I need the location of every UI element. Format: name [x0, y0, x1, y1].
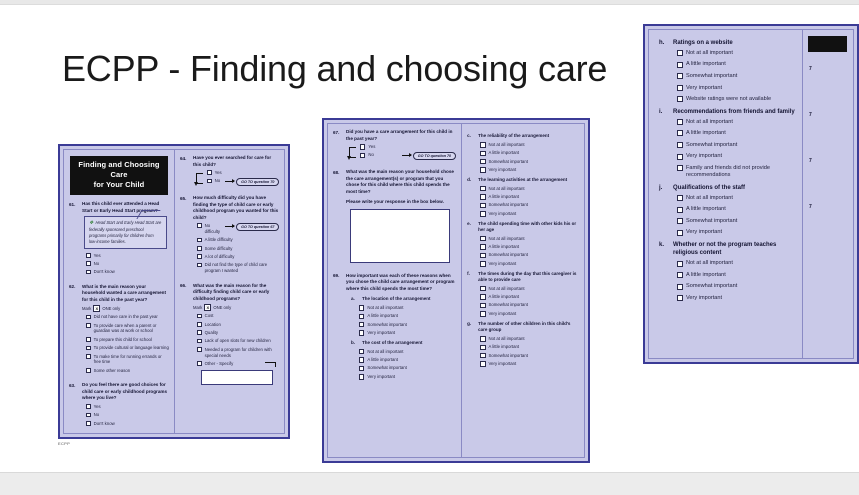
checkbox-icon[interactable] — [359, 330, 364, 335]
question-text: What was the main reason for the difficu… — [193, 283, 279, 303]
option-row[interactable]: A little important — [359, 313, 456, 319]
option-row[interactable]: Website ratings were not available — [677, 96, 796, 104]
mark-instruction: Mark X ONE only — [193, 304, 279, 311]
subitem-label: Ratings on a website — [673, 39, 733, 47]
subitem-d-header: d. The learning activities at the arrang… — [467, 177, 579, 183]
option-row[interactable]: Not at all important — [677, 50, 796, 58]
checkbox-icon[interactable] — [677, 50, 683, 56]
checkbox-icon[interactable] — [480, 336, 485, 341]
option-row[interactable]: Yes — [86, 253, 169, 259]
option-row[interactable]: A little important — [677, 272, 796, 280]
option-row[interactable]: Not at all important — [480, 336, 579, 342]
subitem-label: Recommendations from friends and family — [673, 108, 795, 116]
option-row[interactable]: To prepare this child for school — [86, 337, 169, 343]
option-row[interactable]: Did not have care in the past year — [86, 314, 169, 320]
checkbox-icon[interactable] — [197, 361, 202, 366]
checkbox-icon[interactable] — [359, 322, 364, 327]
option-row[interactable]: Somewhat important — [480, 302, 579, 308]
option-row[interactable]: Not at all important — [677, 260, 796, 268]
option-row[interactable]: Somewhat important — [359, 365, 456, 371]
checkbox-icon[interactable] — [86, 354, 91, 359]
option-row[interactable]: To provide care when a parent or guardia… — [86, 323, 169, 335]
checkbox-icon[interactable] — [677, 261, 683, 267]
checkbox-icon[interactable] — [677, 295, 683, 301]
skip-instruction: GO TO question 67 — [225, 223, 279, 231]
option-row[interactable]: Not at all important — [359, 305, 456, 311]
option-row[interactable]: Not at all important — [480, 142, 579, 148]
options-list: Not at all important A little important … — [476, 336, 579, 367]
checkbox-icon[interactable] — [86, 323, 91, 328]
options-list: No difficulty GO TO question 67 A little… — [193, 223, 279, 274]
checkbox-icon[interactable] — [480, 294, 485, 299]
option-row[interactable]: Very important — [359, 330, 456, 336]
arrow-right-icon — [225, 181, 234, 182]
info-callout: ❖Head Start and Early Head Start are fed… — [84, 216, 167, 248]
subitem-label: The times during the day that this careg… — [478, 271, 579, 284]
options-list: Not at all important A little important … — [476, 142, 579, 173]
checkbox-icon[interactable] — [197, 263, 202, 268]
option-row[interactable]: Somewhat important — [677, 218, 796, 226]
checkbox-icon[interactable] — [480, 244, 485, 249]
options-list: Yes No Don't know — [82, 404, 169, 427]
subitem-g-header: g. The number of other children in this … — [467, 321, 579, 334]
checkbox-icon[interactable] — [359, 357, 364, 362]
option-row[interactable]: Very important — [480, 361, 579, 367]
option-row[interactable]: No — [86, 412, 169, 418]
specify-hook-icon — [265, 361, 279, 366]
question-instruction: Please write your response in the box be… — [346, 199, 456, 206]
option-row[interactable]: Lack of open slots for new children — [197, 338, 279, 344]
checkbox-icon[interactable] — [480, 142, 485, 147]
options-list: Not at all important A little important … — [673, 195, 796, 237]
question-61: 61. Has this child ever attended a Head … — [69, 201, 169, 277]
option-row[interactable]: A little important — [480, 150, 579, 156]
checkbox-icon[interactable] — [207, 179, 212, 184]
question-number: 65. — [180, 195, 193, 277]
subitem-e-header: e. The child spending time with other ki… — [467, 221, 579, 234]
options-list: Yes No Don't know — [82, 253, 169, 276]
checkbox-icon[interactable] — [359, 305, 364, 310]
checkbox-icon[interactable] — [480, 211, 485, 216]
checkbox-icon[interactable] — [480, 253, 485, 258]
options-list: Not at all important A little important … — [673, 260, 796, 302]
subitem-label: The number of other children in this chi… — [478, 321, 579, 334]
option-row[interactable]: Somewhat important — [480, 159, 579, 165]
checkbox-icon[interactable] — [480, 203, 485, 208]
question-66: 66. What was the main reason for the dif… — [180, 283, 279, 387]
mark-x-icon: X — [204, 304, 211, 311]
checkbox-icon[interactable] — [86, 346, 91, 351]
callout-text: Head Start and Early Head Start are fede… — [89, 220, 161, 243]
checkbox-icon[interactable] — [197, 330, 202, 335]
option-row[interactable]: Quality — [197, 330, 279, 336]
info-bullet-icon: ❖ — [89, 220, 93, 226]
checkbox-icon[interactable] — [677, 85, 683, 91]
subitem-f-header: f. The times during the day that this ca… — [467, 271, 579, 284]
checkbox-icon[interactable] — [480, 151, 485, 156]
options-list: Yes No GO TO question 70 — [356, 144, 456, 160]
page-middle-column-2: c. The reliability of the arrangement No… — [462, 124, 584, 457]
option-row[interactable]: Yes — [207, 170, 279, 176]
option-row[interactable]: No — [86, 261, 169, 267]
option-row[interactable]: Not at all important — [677, 119, 796, 127]
option-row[interactable]: A little difficulty — [197, 237, 279, 243]
question-text: How important was each of these reasons … — [346, 273, 456, 293]
option-row[interactable]: Did not find the type of child care prog… — [197, 262, 279, 274]
checkbox-icon[interactable] — [360, 153, 365, 158]
option-row[interactable]: Very important — [480, 311, 579, 317]
subitem-b-header: b. The cost of the arrangement — [351, 340, 456, 346]
option-row[interactable]: A little important — [677, 61, 796, 69]
option-row[interactable]: Not at all important — [480, 236, 579, 242]
checkbox-icon[interactable] — [677, 96, 683, 102]
checkbox-icon[interactable] — [197, 223, 202, 228]
option-row[interactable]: A lot of difficulty — [197, 254, 279, 260]
subitem-label: The reliability of the arrangement — [478, 133, 549, 139]
question-number: 61. — [69, 201, 82, 277]
option-row[interactable]: A little important — [359, 357, 456, 363]
subitem-label: Qualifications of the staff — [673, 184, 745, 192]
checkbox-icon[interactable] — [677, 62, 683, 68]
option-row[interactable]: No GO TO question 70 — [207, 178, 279, 186]
option-row[interactable]: Location — [197, 322, 279, 328]
question-number: 64. — [180, 155, 193, 189]
skip-instruction: GO TO question 70 — [225, 178, 279, 186]
checkbox-icon[interactable] — [677, 119, 683, 125]
options-list: Did not have care in the past year To pr… — [82, 314, 169, 373]
checkbox-icon[interactable] — [480, 353, 485, 358]
checkbox-icon[interactable] — [86, 413, 91, 418]
option-row[interactable]: Not at all important — [677, 195, 796, 203]
subitem-label: The learning activities at the arrangeme… — [478, 177, 567, 183]
window-bottom-bar — [0, 472, 859, 495]
question-69: 69. How important was each of these reas… — [333, 273, 456, 383]
subitem-h-header: h. Ratings on a website — [659, 39, 796, 47]
option-row[interactable]: Somewhat important — [677, 283, 796, 291]
question-number: 67. — [333, 129, 346, 163]
checkbox-icon[interactable] — [207, 170, 212, 175]
question-62: 62. What is the main reason your househo… — [69, 284, 169, 376]
question-number: 7 — [809, 204, 848, 210]
option-row[interactable]: A little important — [480, 294, 579, 300]
option-row[interactable]: A little important — [677, 206, 796, 214]
checkbox-icon[interactable] — [480, 194, 485, 199]
option-row[interactable]: Somewhat important — [677, 142, 796, 150]
options-list: Not at all important A little important … — [476, 186, 579, 217]
questionnaire-page-right: h. Ratings on a website Not at all impor… — [643, 24, 859, 364]
option-row[interactable]: Family and friends did not provide recom… — [677, 165, 796, 180]
option-row[interactable]: Somewhat important — [480, 202, 579, 208]
option-row[interactable]: Somewhat important — [480, 353, 579, 359]
option-row[interactable]: Yes — [360, 144, 456, 150]
checkbox-icon[interactable] — [677, 207, 683, 213]
checkbox-icon[interactable] — [480, 236, 485, 241]
question-text: How much difficulty did you have finding… — [193, 195, 279, 221]
question-number: 7 — [809, 158, 848, 164]
page-footer-label: ECPP — [58, 441, 70, 446]
window-top-divider — [0, 0, 859, 5]
page-right-column-2: 7 7 7 7 — [803, 30, 853, 358]
checkbox-icon[interactable] — [86, 404, 91, 409]
page-right-column-1: h. Ratings on a website Not at all impor… — [649, 30, 802, 358]
checkbox-icon[interactable] — [677, 130, 683, 136]
checkbox-icon[interactable] — [197, 322, 202, 327]
options-list: Not at all important A little important … — [476, 286, 579, 317]
question-number: 63. — [69, 382, 82, 429]
question-63: 63. Do you feel there are good choices f… — [69, 382, 169, 429]
questionnaire-page-middle: 67. Did you have a care arrangement for … — [322, 118, 590, 463]
option-row[interactable]: Very important — [480, 211, 579, 217]
option-row[interactable]: A little important — [480, 244, 579, 250]
option-row[interactable]: Very important — [677, 229, 796, 237]
checkbox-icon[interactable] — [359, 314, 364, 319]
checkbox-icon[interactable] — [197, 246, 202, 251]
subitem-label: The location of the arrangement — [362, 296, 431, 302]
option-row[interactable]: To make time for running errands or free… — [86, 354, 169, 366]
free-response-input[interactable] — [350, 209, 450, 263]
subitem-i-header: i. Recommendations from friends and fami… — [659, 108, 796, 116]
option-row[interactable]: Don't know — [86, 421, 169, 427]
option-row[interactable]: A little important — [480, 194, 579, 200]
question-number: 66. — [180, 283, 193, 387]
checkbox-icon[interactable] — [197, 347, 202, 352]
option-row[interactable]: Very important — [480, 167, 579, 173]
option-row[interactable]: Other - Specify — [197, 361, 279, 367]
question-64: 64. Have you ever searched for care for … — [180, 155, 279, 189]
arrow-right-icon — [402, 155, 411, 156]
option-row[interactable]: Cost — [197, 313, 279, 319]
option-row[interactable]: Some other reason — [86, 368, 169, 374]
options-list: Not at all important A little important … — [355, 349, 456, 380]
subitem-a-header: a. The location of the arrangement — [351, 296, 456, 302]
option-row[interactable]: No difficulty GO TO question 67 — [197, 223, 279, 235]
checkbox-icon[interactable] — [86, 270, 91, 275]
question-text: What was the main reason your household … — [346, 169, 456, 195]
option-row[interactable]: Needed a program for children with speci… — [197, 347, 279, 359]
checkbox-icon[interactable] — [360, 144, 365, 149]
checkbox-icon[interactable] — [480, 311, 485, 316]
page-left-column-2: 64. Have you ever searched for care for … — [175, 150, 284, 433]
goto-pill: GO TO question 70 — [413, 152, 456, 160]
checkbox-icon[interactable] — [197, 339, 202, 344]
subitem-k-header: k. Whether or not the program teaches re… — [659, 241, 796, 258]
callout-pointer-icon — [136, 210, 160, 219]
question-text: Have you ever searched for care for this… — [193, 155, 279, 168]
section-header-band: Finding and Choosing Care for Your Child — [70, 156, 168, 195]
checkbox-icon[interactable] — [86, 337, 91, 342]
option-row[interactable]: A little important — [480, 344, 579, 350]
checkbox-icon[interactable] — [197, 254, 202, 259]
subitem-c-header: c. The reliability of the arrangement — [467, 133, 579, 139]
option-row[interactable]: Very important — [677, 153, 796, 161]
option-row[interactable]: Not at all important — [480, 186, 579, 192]
options-list: Not at all important A little important … — [673, 50, 796, 104]
options-list: Not at all important A little important … — [355, 305, 456, 336]
checkbox-icon[interactable] — [86, 315, 91, 320]
checkbox-icon[interactable] — [480, 261, 485, 266]
arrow-right-icon — [225, 226, 234, 227]
checkbox-icon[interactable] — [359, 366, 364, 371]
goto-pill: GO TO question 70 — [236, 178, 279, 186]
option-row[interactable]: To provide cultural or language learning — [86, 345, 169, 351]
checkbox-icon[interactable] — [86, 421, 91, 426]
option-row[interactable]: Don't know — [86, 269, 169, 275]
page-title: ECPP - Finding and choosing care — [62, 48, 607, 90]
subitem-j-header: j. Qualifications of the staff — [659, 184, 796, 192]
mark-instruction: Mark X ONE only — [82, 305, 169, 312]
question-65: 65. How much difficulty did you have fin… — [180, 195, 279, 277]
checkbox-icon[interactable] — [197, 238, 202, 243]
mark-x-icon: X — [93, 305, 100, 312]
checkbox-icon[interactable] — [480, 361, 485, 366]
checkbox-icon[interactable] — [197, 314, 202, 319]
skip-pattern-bracket-icon — [193, 170, 201, 186]
skip-instruction: GO TO question 70 — [402, 152, 456, 160]
option-row[interactable]: Not at all important — [480, 286, 579, 292]
options-list: Not at all important A little important … — [476, 236, 579, 267]
goto-pill: GO TO question 67 — [236, 223, 279, 231]
checkbox-icon[interactable] — [677, 284, 683, 290]
option-row[interactable]: Very important — [677, 85, 796, 93]
questionnaire-page-left: Finding and Choosing Care for Your Child… — [58, 144, 290, 439]
question-number: 7 — [809, 112, 848, 118]
subitem-label: The cost of the arrangement — [362, 340, 423, 346]
option-row[interactable]: Some difficulty — [197, 246, 279, 252]
question-68: 68. What was the main reason your househ… — [333, 169, 456, 267]
checkbox-icon[interactable] — [480, 345, 485, 350]
checkbox-icon[interactable] — [480, 186, 485, 191]
question-67: 67. Did you have a care arrangement for … — [333, 129, 456, 163]
option-row[interactable]: No GO TO question 70 — [360, 152, 456, 160]
option-row[interactable]: A little important — [677, 130, 796, 138]
question-text: Did you have a care arrangement for this… — [346, 129, 456, 142]
page-left-column-1: Finding and Choosing Care for Your Child… — [64, 150, 174, 433]
checkbox-icon[interactable] — [359, 349, 364, 354]
checkbox-icon[interactable] — [359, 374, 364, 379]
options-list: Cost Location Quality Lack of open slots… — [193, 313, 279, 367]
question-text: Do you feel there are good choices for c… — [82, 382, 169, 402]
checkbox-icon[interactable] — [677, 230, 683, 236]
checkbox-icon[interactable] — [677, 73, 683, 79]
other-specify-input[interactable] — [201, 370, 273, 385]
option-row[interactable]: Very important — [677, 295, 796, 303]
checkbox-icon[interactable] — [86, 253, 91, 258]
checkbox-icon[interactable] — [480, 303, 485, 308]
question-number: 68. — [333, 169, 346, 267]
section-header-band — [808, 36, 847, 52]
subitem-label: Whether or not the program teaches relig… — [673, 241, 796, 258]
page-middle-column-1: 67. Did you have a care arrangement for … — [328, 124, 461, 457]
option-row[interactable]: Very important — [359, 374, 456, 380]
question-number: 69. — [333, 273, 346, 383]
question-text: What is the main reason your household w… — [82, 284, 169, 304]
slide-canvas: ECPP - Finding and choosing care Finding… — [0, 0, 859, 495]
options-list: Not at all important A little important … — [673, 119, 796, 180]
checkbox-icon[interactable] — [86, 261, 91, 266]
option-row[interactable]: Somewhat important — [359, 322, 456, 328]
checkbox-icon[interactable] — [677, 272, 683, 278]
option-row[interactable]: Very important — [480, 261, 579, 267]
option-row[interactable]: Not at all important — [359, 349, 456, 355]
checkbox-icon[interactable] — [677, 195, 683, 201]
subitem-label: The child spending time with other kids … — [478, 221, 579, 234]
checkbox-icon[interactable] — [677, 218, 683, 224]
question-number: 62. — [69, 284, 82, 376]
checkbox-icon[interactable] — [480, 159, 485, 164]
option-row[interactable]: Somewhat important — [677, 73, 796, 81]
option-row[interactable]: Somewhat important — [480, 252, 579, 258]
skip-pattern-bracket-icon — [346, 144, 354, 160]
checkbox-icon[interactable] — [677, 165, 683, 171]
question-number: 7 — [809, 66, 848, 72]
checkbox-icon[interactable] — [677, 154, 683, 160]
checkbox-icon[interactable] — [86, 368, 91, 373]
checkbox-icon[interactable] — [480, 286, 485, 291]
option-row[interactable]: Yes — [86, 404, 169, 410]
options-list: Yes No GO TO question 70 — [203, 170, 279, 186]
checkbox-icon[interactable] — [480, 167, 485, 172]
checkbox-icon[interactable] — [677, 142, 683, 148]
